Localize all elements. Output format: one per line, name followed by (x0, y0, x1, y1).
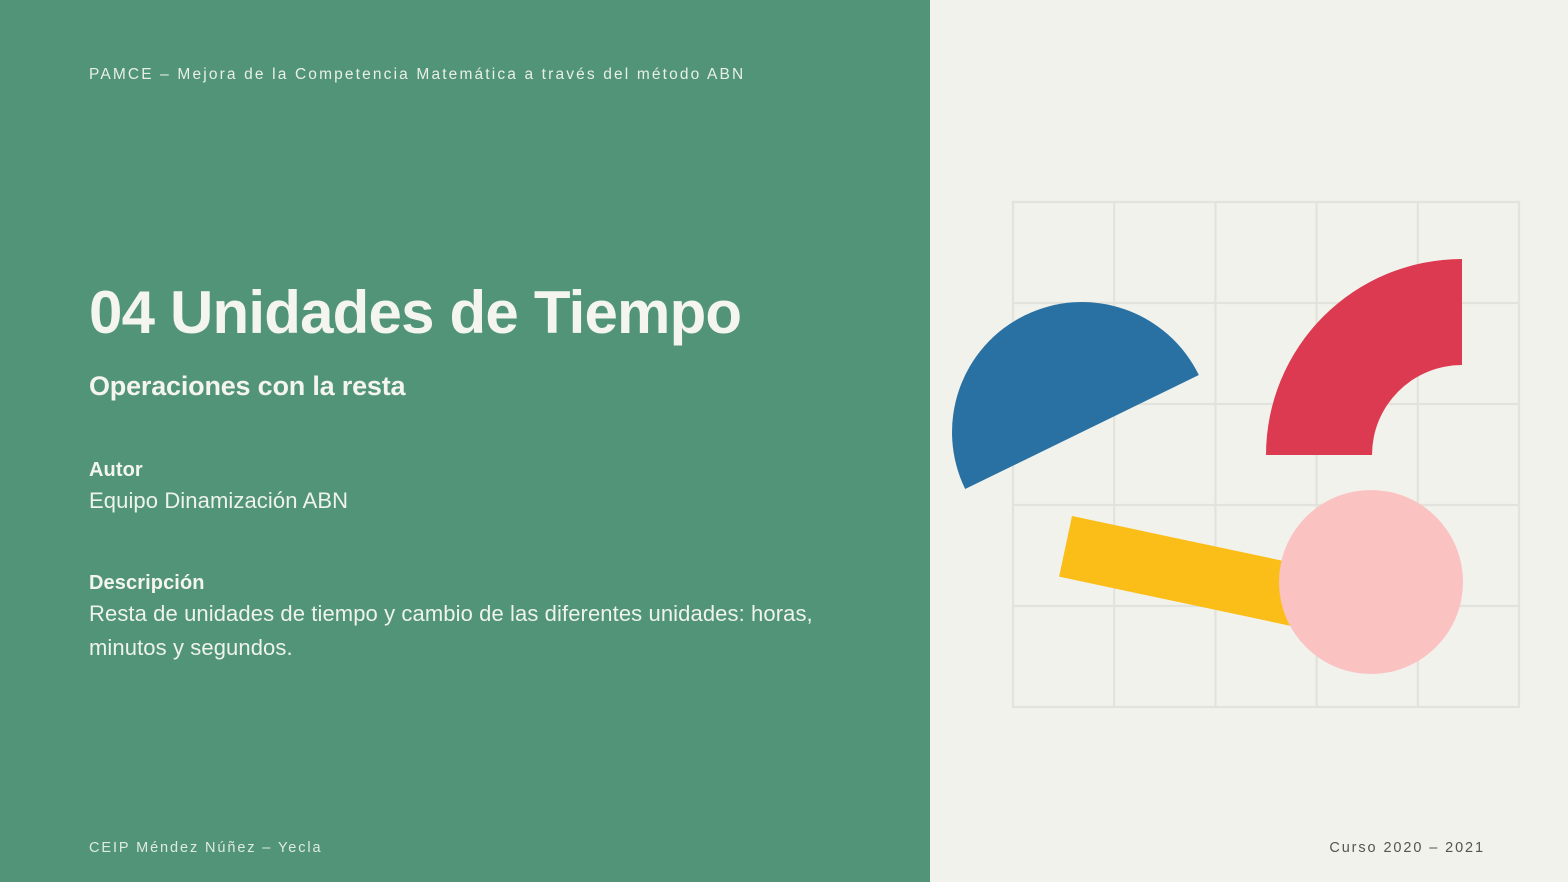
course-year-footer: Curso 2020 – 2021 (1329, 840, 1485, 856)
author-group: Autor Equipo Dinamización ABN (89, 457, 849, 518)
metadata-block: Autor Equipo Dinamización ABN Descripció… (89, 457, 849, 665)
description-label: Descripción (89, 570, 849, 597)
blue-half-disc-shape (930, 258, 1199, 489)
page-subtitle: Operaciones con la resta (89, 344, 889, 402)
decorative-shapes-svg (930, 0, 1568, 882)
author-label: Autor (89, 457, 849, 484)
author-value: Equipo Dinamización ABN (89, 484, 849, 518)
page-title: 04 Unidades de Tiempo (89, 282, 889, 344)
program-eyebrow: PAMCE – Mejora de la Competencia Matemát… (89, 66, 745, 84)
red-quarter-ring-shape (1266, 259, 1462, 455)
school-footer: CEIP Méndez Núñez – Yecla (89, 840, 322, 856)
presentation-slide: PAMCE – Mejora de la Competencia Matemát… (0, 0, 1568, 882)
decorative-art-area: Curso 2020 – 2021 (930, 0, 1568, 882)
pink-circle-shape (1279, 490, 1463, 674)
description-value: Resta de unidades de tiempo y cambio de … (89, 597, 849, 665)
description-group: Descripción Resta de unidades de tiempo … (89, 570, 849, 665)
left-green-panel: PAMCE – Mejora de la Competencia Matemát… (0, 0, 930, 882)
title-block: 04 Unidades de Tiempo Operaciones con la… (89, 282, 889, 401)
